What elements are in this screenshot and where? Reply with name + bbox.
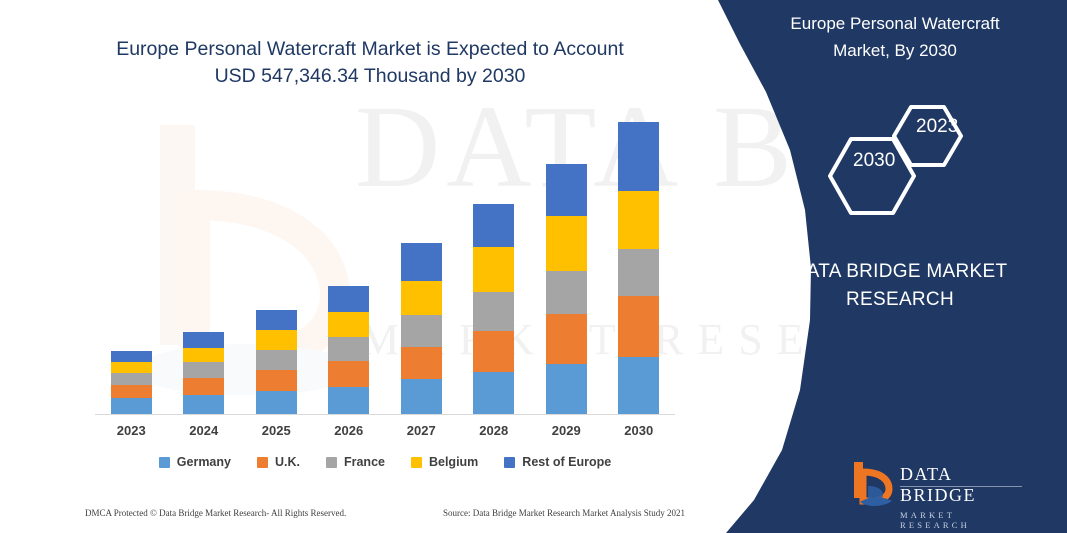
- legend-label-france: France: [344, 455, 385, 469]
- legend-item-belgium[interactable]: Belgium: [411, 455, 478, 469]
- panel-title-line-1: Europe Personal Watercraft: [745, 10, 1045, 37]
- bar-segment-2025-germany[interactable]: [256, 391, 297, 414]
- bar-segment-2030-belgium[interactable]: [618, 191, 659, 249]
- bar-segment-2027-belgium[interactable]: [401, 281, 442, 315]
- legend-swatch-belgium: [411, 457, 422, 468]
- stacked-bar-chart: [95, 120, 675, 415]
- bar-segment-2028-belgium[interactable]: [473, 247, 514, 291]
- hexagon-2023-label: 2023: [916, 116, 958, 138]
- bar-segment-2026-rest-of-europe[interactable]: [328, 286, 369, 311]
- bar-segment-2029-germany[interactable]: [546, 364, 587, 414]
- bar-2029[interactable]: [546, 164, 587, 414]
- bar-segment-2023-france[interactable]: [111, 373, 152, 385]
- bar-segment-2030-france[interactable]: [618, 249, 659, 296]
- bar-segment-2024-germany[interactable]: [183, 395, 224, 414]
- x-axis-label-2024: 2024: [183, 423, 224, 438]
- bar-2023[interactable]: [111, 351, 152, 414]
- bar-segment-2026-france[interactable]: [328, 337, 369, 361]
- legend-label-belgium: Belgium: [429, 455, 478, 469]
- brand-logo-main-text: DATA BRIDGE: [900, 464, 1028, 506]
- bar-segment-2027-u-k[interactable]: [401, 347, 442, 380]
- bar-segment-2029-rest-of-europe[interactable]: [546, 164, 587, 216]
- legend-swatch-germany: [159, 457, 170, 468]
- legend-label-germany: Germany: [177, 455, 231, 469]
- bar-segment-2024-rest-of-europe[interactable]: [183, 332, 224, 348]
- legend-swatch-france: [326, 457, 337, 468]
- panel-title: Europe Personal Watercraft Market, By 20…: [745, 10, 1045, 64]
- infographic-canvas: DATA BRIDGE MARKET RESEARCH Europe Perso…: [0, 0, 1067, 533]
- panel-brand-line-1: DATA BRIDGE MARKET: [770, 258, 1030, 286]
- legend-item-germany[interactable]: Germany: [159, 455, 231, 469]
- footer: DMCA Protected © Data Bridge Market Rese…: [85, 508, 685, 518]
- legend-label-u-k: U.K.: [275, 455, 300, 469]
- bar-segment-2023-germany[interactable]: [111, 398, 152, 414]
- chart-baseline-axis: [95, 414, 675, 415]
- brand-logo-text: DATA BRIDGE MARKET RESEARCH: [900, 464, 1028, 530]
- bar-segment-2028-france[interactable]: [473, 292, 514, 331]
- bar-segment-2030-germany[interactable]: [618, 357, 659, 414]
- bar-segment-2030-u-k[interactable]: [618, 296, 659, 357]
- panel-title-line-2: Market, By 2030: [745, 37, 1045, 64]
- bar-segment-2024-france[interactable]: [183, 362, 224, 378]
- panel-brand-name: DATA BRIDGE MARKET RESEARCH: [770, 258, 1030, 314]
- legend-label-rest-of-europe: Rest of Europe: [522, 455, 611, 469]
- x-axis-label-2026: 2026: [328, 423, 369, 438]
- bar-segment-2025-france[interactable]: [256, 350, 297, 370]
- bar-segment-2029-france[interactable]: [546, 271, 587, 314]
- x-axis-label-2028: 2028: [473, 423, 514, 438]
- bar-segment-2026-belgium[interactable]: [328, 312, 369, 337]
- bar-2028[interactable]: [473, 204, 514, 414]
- brand-logo-rule: [900, 486, 1022, 487]
- bar-2025[interactable]: [256, 310, 297, 414]
- chart-plot-area: [95, 122, 675, 414]
- bar-2027[interactable]: [401, 243, 442, 414]
- x-axis-label-2029: 2029: [546, 423, 587, 438]
- hexagon-badges: 2030 2023: [818, 92, 1018, 217]
- bar-2024[interactable]: [183, 332, 224, 414]
- hexagon-outlines-icon: [818, 92, 1018, 217]
- page-title: Europe Personal Watercraft Market is Exp…: [60, 36, 680, 90]
- bar-segment-2027-germany[interactable]: [401, 379, 442, 414]
- bar-segment-2025-belgium[interactable]: [256, 330, 297, 350]
- panel-brand-line-2: RESEARCH: [770, 286, 1030, 314]
- bar-segment-2023-rest-of-europe[interactable]: [111, 351, 152, 363]
- page-title-line-1: Europe Personal Watercraft Market is Exp…: [60, 36, 680, 63]
- bar-2026[interactable]: [328, 286, 369, 414]
- bar-segment-2023-u-k[interactable]: [111, 385, 152, 399]
- page-title-line-2: USD 547,346.34 Thousand by 2030: [60, 63, 680, 90]
- x-axis-label-2030: 2030: [618, 423, 659, 438]
- footer-source: Source: Data Bridge Market Research Mark…: [443, 508, 685, 518]
- brand-logo: DATA BRIDGE MARKET RESEARCH: [848, 458, 1028, 514]
- x-axis-label-2025: 2025: [256, 423, 297, 438]
- chart-x-axis-labels: 20232024202520262027202820292030: [95, 423, 675, 438]
- bar-segment-2025-rest-of-europe[interactable]: [256, 310, 297, 330]
- bar-segment-2029-belgium[interactable]: [546, 216, 587, 271]
- legend-item-rest-of-europe[interactable]: Rest of Europe: [504, 455, 611, 469]
- bar-segment-2030-rest-of-europe[interactable]: [618, 122, 659, 191]
- bar-segment-2024-belgium[interactable]: [183, 348, 224, 363]
- bar-segment-2026-germany[interactable]: [328, 387, 369, 414]
- bar-segment-2028-u-k[interactable]: [473, 331, 514, 372]
- bar-segment-2025-u-k[interactable]: [256, 370, 297, 391]
- bar-segment-2028-germany[interactable]: [473, 372, 514, 414]
- legend-swatch-u-k: [257, 457, 268, 468]
- bar-segment-2023-belgium[interactable]: [111, 362, 152, 373]
- bar-segment-2026-u-k[interactable]: [328, 361, 369, 386]
- footer-copyright: DMCA Protected © Data Bridge Market Rese…: [85, 508, 346, 518]
- legend-swatch-rest-of-europe: [504, 457, 515, 468]
- x-axis-label-2027: 2027: [401, 423, 442, 438]
- bar-segment-2027-rest-of-europe[interactable]: [401, 243, 442, 281]
- legend-item-france[interactable]: France: [326, 455, 385, 469]
- bar-segment-2027-france[interactable]: [401, 315, 442, 347]
- bar-segment-2024-u-k[interactable]: [183, 378, 224, 395]
- bar-segment-2028-rest-of-europe[interactable]: [473, 204, 514, 247]
- bar-2030[interactable]: [618, 122, 659, 414]
- data-bridge-logo-icon: [848, 458, 896, 508]
- legend-item-u-k[interactable]: U.K.: [257, 455, 300, 469]
- brand-logo-sub-text: MARKET RESEARCH: [900, 510, 1028, 530]
- chart-legend: GermanyU.K.FranceBelgiumRest of Europe: [95, 455, 675, 469]
- bar-segment-2029-u-k[interactable]: [546, 314, 587, 365]
- hexagon-2030-label: 2030: [853, 150, 895, 172]
- x-axis-label-2023: 2023: [111, 423, 152, 438]
